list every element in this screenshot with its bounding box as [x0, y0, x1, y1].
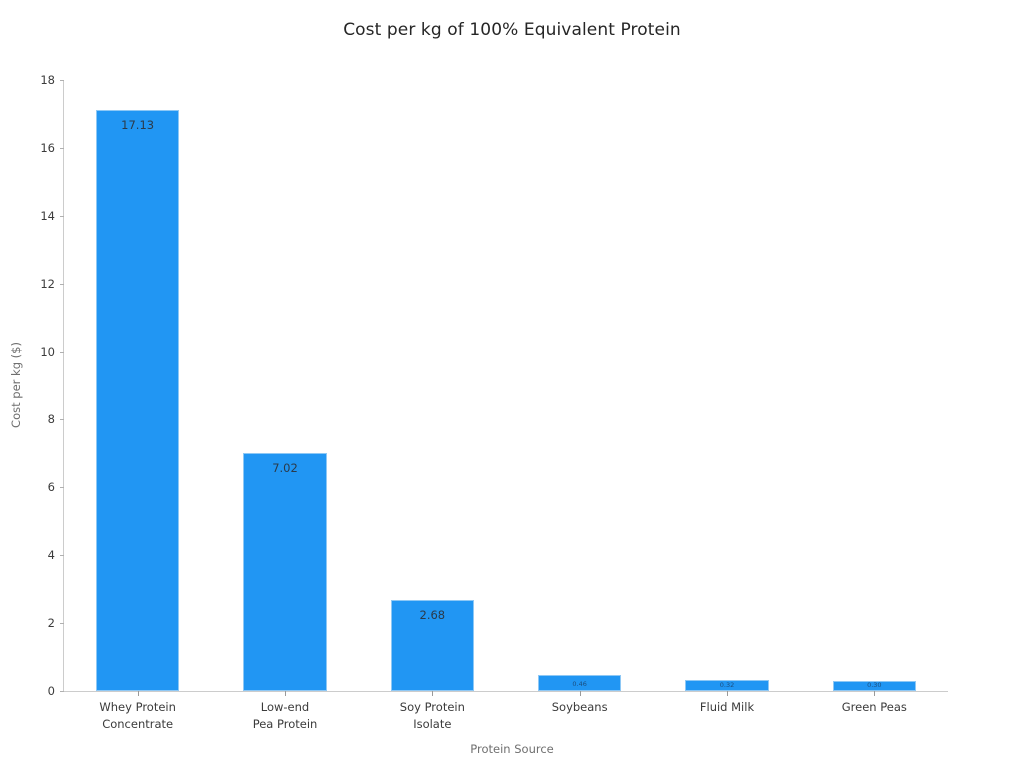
x-axis-line	[64, 691, 948, 692]
x-tick-mark	[874, 691, 875, 696]
y-tick-label: 0	[48, 684, 64, 698]
y-tick-label: 8	[48, 412, 64, 426]
chart-figure: Cost per kg of 100% Equivalent Protein C…	[0, 0, 1024, 768]
bar[interactable]	[243, 453, 326, 691]
x-tick-label: Low-end Pea Protein	[253, 699, 318, 733]
x-tick-label: Green Peas	[842, 699, 907, 716]
x-tick-mark	[580, 691, 581, 696]
y-tick-label: 16	[40, 141, 64, 155]
bar[interactable]	[538, 675, 621, 691]
bar-slot: 0.46	[538, 80, 621, 691]
y-tick-label: 14	[40, 209, 64, 223]
chart-title: Cost per kg of 100% Equivalent Protein	[0, 20, 1024, 40]
x-tick-label: Whey Protein Concentrate	[99, 699, 176, 733]
x-tick-mark	[727, 691, 728, 696]
x-tick-label: Fluid Milk	[700, 699, 754, 716]
x-axis-title: Protein Source	[0, 742, 1024, 756]
y-tick-label: 6	[48, 480, 64, 494]
y-tick-label: 4	[48, 548, 64, 562]
x-tick-label: Soybeans	[552, 699, 608, 716]
y-tick-label: 10	[40, 345, 64, 359]
bar-slot: 17.13	[96, 80, 179, 691]
plot-area: 024681012141618 17.137.022.680.460.320.3…	[64, 80, 948, 691]
x-tick-label: Soy Protein Isolate	[400, 699, 465, 733]
y-axis-title: Cost per kg ($)	[9, 342, 23, 428]
bar[interactable]	[685, 680, 768, 691]
bar-slot: 7.02	[243, 80, 326, 691]
bar-series: 17.137.022.680.460.320.30	[64, 80, 948, 691]
bar-slot: 0.30	[833, 80, 916, 691]
bar-slot: 2.68	[391, 80, 474, 691]
y-tick-label: 2	[48, 616, 64, 630]
y-tick-label: 12	[40, 277, 64, 291]
bar[interactable]	[96, 110, 179, 691]
bar-slot: 0.32	[685, 80, 768, 691]
y-tick-label: 18	[40, 73, 64, 87]
bar[interactable]	[391, 600, 474, 691]
x-tick-mark	[432, 691, 433, 696]
bar[interactable]	[833, 681, 916, 691]
x-tick-mark	[285, 691, 286, 696]
x-tick-mark	[138, 691, 139, 696]
